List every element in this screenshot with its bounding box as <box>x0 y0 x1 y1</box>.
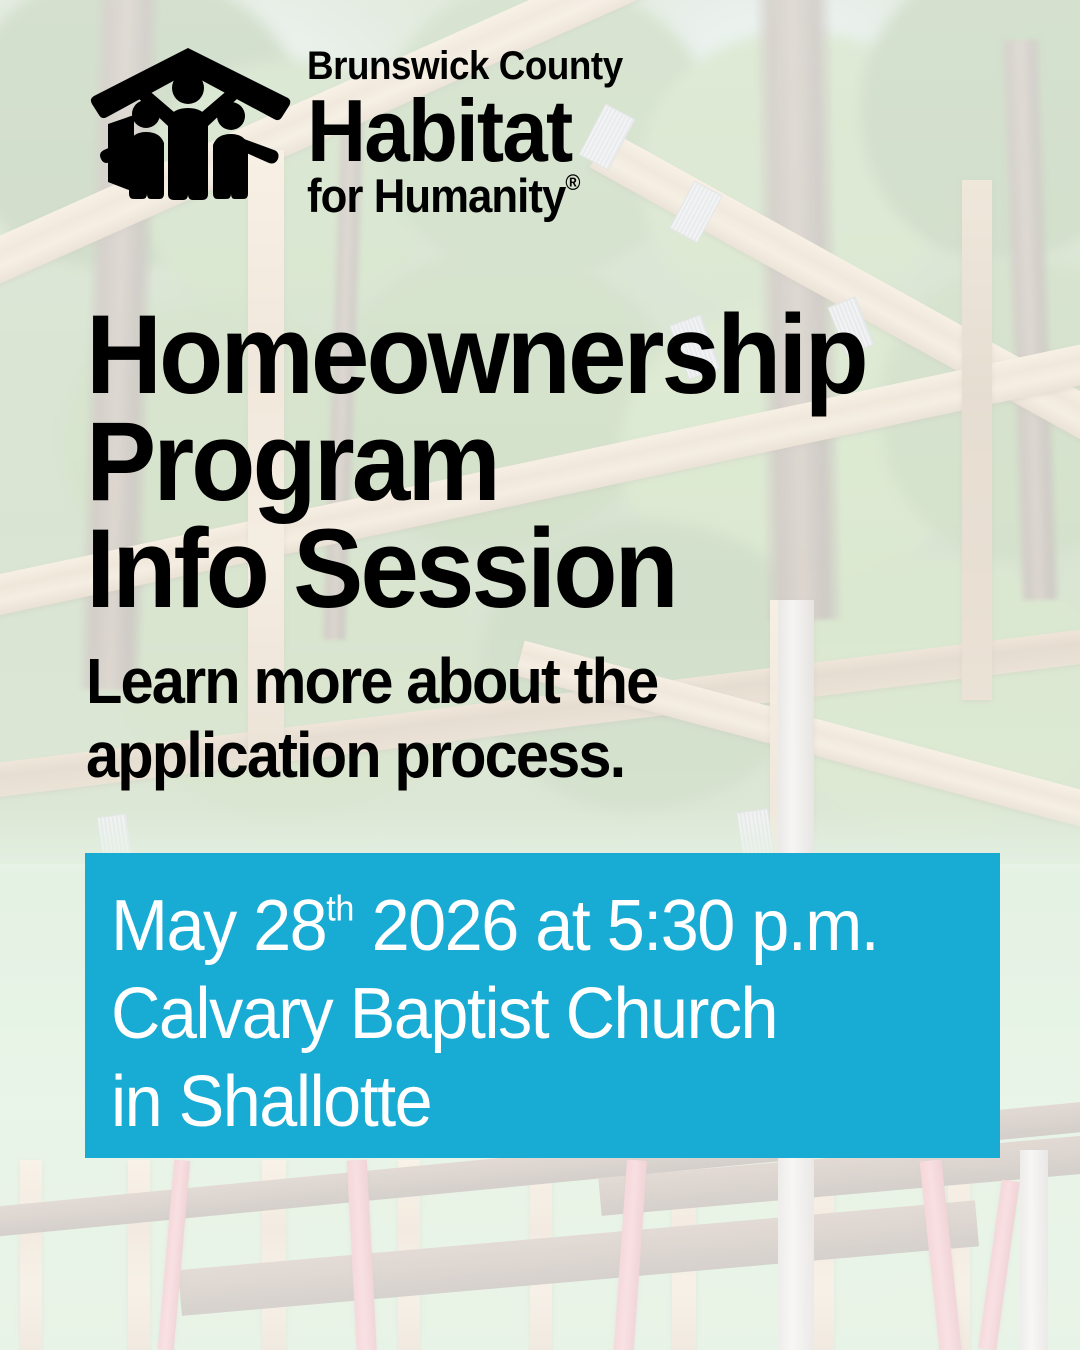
habitat-logo-lockup: Brunswick County Habitat for Humanity® <box>88 36 650 219</box>
event-details-panel: May 28th 2026 at 5:30 p.m. Calvary Bapti… <box>85 853 1000 1158</box>
event-flyer: Brunswick County Habitat for Humanity® H… <box>0 0 1080 1350</box>
logo-line-brunswick-county: Brunswick County <box>307 46 623 86</box>
habitat-logo-wordmark: Brunswick County Habitat for Humanity® <box>307 36 650 219</box>
headline-line-2: Program <box>86 409 932 516</box>
logo-for-humanity-text: for Humanity <box>307 169 565 222</box>
event-date-suffix: 2026 at 5:30 p.m. <box>354 886 878 966</box>
registered-trademark-icon: ® <box>565 170 580 195</box>
event-details-text: May 28th 2026 at 5:30 p.m. Calvary Bapti… <box>111 883 944 1146</box>
flyer-content: Brunswick County Habitat for Humanity® H… <box>0 0 1080 1350</box>
event-date-prefix: May 28 <box>111 886 326 966</box>
logo-line-for-humanity: for Humanity® <box>307 172 626 219</box>
event-location: in Shallotte <box>111 1059 944 1147</box>
page-title: Homeownership Program Info Session <box>86 302 932 623</box>
page-subtitle: Learn more about the application process… <box>86 644 849 792</box>
habitat-for-humanity-logo-mark <box>88 40 293 212</box>
headline-line-1: Homeownership <box>86 302 932 409</box>
subhead-line-1: Learn more about the <box>86 644 849 718</box>
headline-line-3: Info Session <box>86 516 932 623</box>
event-date-ordinal: th <box>326 887 354 928</box>
subhead-line-2: application process. <box>86 718 849 792</box>
event-datetime: May 28th 2026 at 5:30 p.m. <box>111 883 944 971</box>
logo-line-habitat: Habitat <box>307 88 626 174</box>
event-venue: Calvary Baptist Church <box>111 971 944 1059</box>
